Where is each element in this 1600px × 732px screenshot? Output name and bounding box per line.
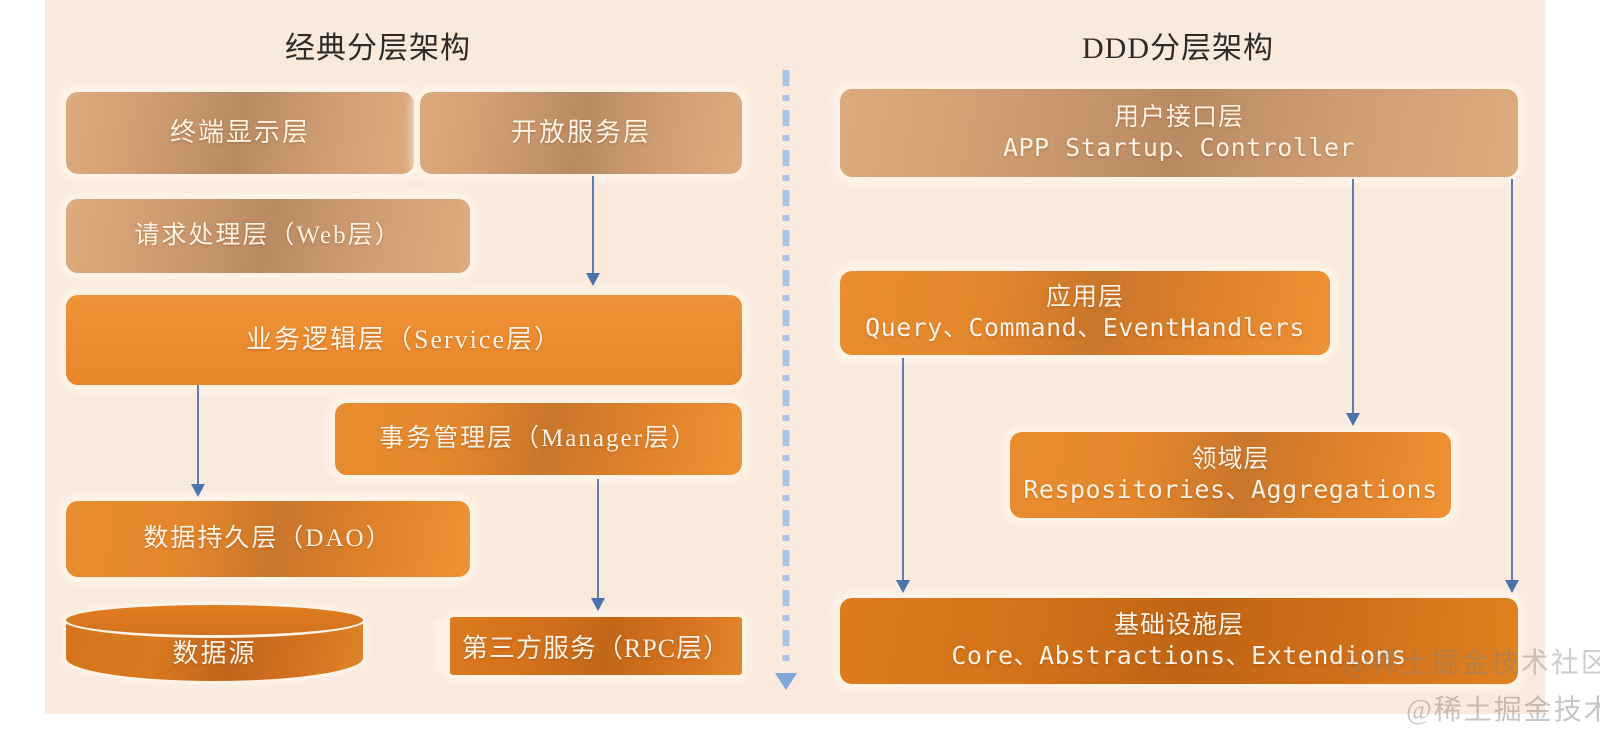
box-label-cn: 应用层 (1046, 283, 1124, 314)
arrow-shaft (902, 358, 904, 580)
box-application-layer[interactable]: 应用层 Query、Command、EventHandlers (840, 271, 1330, 355)
arrow-business-logic-to-data-persistence (190, 385, 206, 497)
box-business-logic-layer[interactable]: 业务逻辑层（Service层） (66, 295, 742, 385)
arrow-head-icon (591, 598, 605, 611)
diagram-root: 经典分层架构 终端显示层 开放服务层 请求处理层（Web层） 业务逻辑层（Ser… (0, 0, 1600, 732)
watermark-primary: @稀土掘金技术社区 (1343, 641, 1600, 681)
column-divider-arrow (775, 70, 797, 690)
arrow-transaction-manager-to-rpc (590, 479, 606, 611)
box-label-cn: 领域层 (1191, 445, 1269, 476)
box-label: 业务逻辑层（Service层） (246, 324, 562, 356)
box-label-en: APP Startup、Controller (1003, 133, 1355, 164)
arrow-user-interface-to-infrastructure (1504, 179, 1520, 593)
divider-arrow-head-icon (775, 673, 797, 690)
arrow-shaft (1352, 179, 1354, 413)
arrow-shaft (597, 479, 599, 598)
box-data-persistence-layer[interactable]: 数据持久层（DAO） (66, 501, 470, 577)
arrow-head-icon (191, 484, 205, 497)
arrow-application-to-infrastructure (895, 358, 911, 593)
right-column-title: DDD分层架构 (1082, 23, 1274, 67)
arrow-head-icon (586, 273, 600, 286)
arrow-shaft (1511, 179, 1513, 580)
arrow-shaft (592, 176, 594, 273)
arrow-open-service-to-business-logic (585, 176, 601, 286)
box-domain-layer[interactable]: 领域层 Respositories、Aggregations (1010, 432, 1451, 518)
box-label-en: Query、Command、EventHandlers (865, 313, 1305, 344)
datasource-cylinder[interactable]: 数据源 (63, 602, 366, 684)
cylinder-label: 数据源 (63, 633, 366, 670)
box-open-service-layer[interactable]: 开放服务层 (420, 92, 742, 174)
left-column-title: 经典分层架构 (285, 23, 471, 67)
box-label: 事务管理层（Manager层） (379, 424, 698, 455)
box-label: 开放服务层 (511, 117, 651, 149)
box-label: 终端显示层 (170, 117, 310, 149)
rpc-label: 第三方服务（RPC层） (450, 617, 742, 675)
watermark-secondary: @稀土掘金技术社区 (1406, 688, 1600, 728)
divider-dashed-line (783, 70, 790, 670)
arrow-head-icon (1505, 580, 1519, 593)
box-label-cn: 基础设施层 (1114, 611, 1244, 642)
box-label: 数据持久层（DAO） (143, 524, 392, 555)
box-label-en: Respositories、Aggregations (1023, 475, 1437, 506)
arrow-user-interface-to-domain (1345, 179, 1361, 426)
box-label: 请求处理层（Web层） (134, 221, 401, 252)
arrow-head-icon (1346, 413, 1360, 426)
box-terminal-display-layer[interactable]: 终端显示层 (66, 92, 414, 174)
arrow-shaft (197, 385, 199, 484)
arrow-head-icon (896, 580, 910, 593)
box-label-cn: 用户接口层 (1114, 103, 1244, 134)
box-transaction-manager-layer[interactable]: 事务管理层（Manager层） (335, 403, 742, 475)
box-request-handling-layer[interactable]: 请求处理层（Web层） (66, 199, 470, 273)
box-label-en: Core、Abstractions、Extendions (951, 641, 1406, 672)
box-third-party-service-layer[interactable]: 第三方服务（RPC层） (437, 617, 742, 675)
rpc-left-strip (437, 621, 448, 671)
box-user-interface-layer[interactable]: 用户接口层 APP Startup、Controller (840, 89, 1518, 177)
